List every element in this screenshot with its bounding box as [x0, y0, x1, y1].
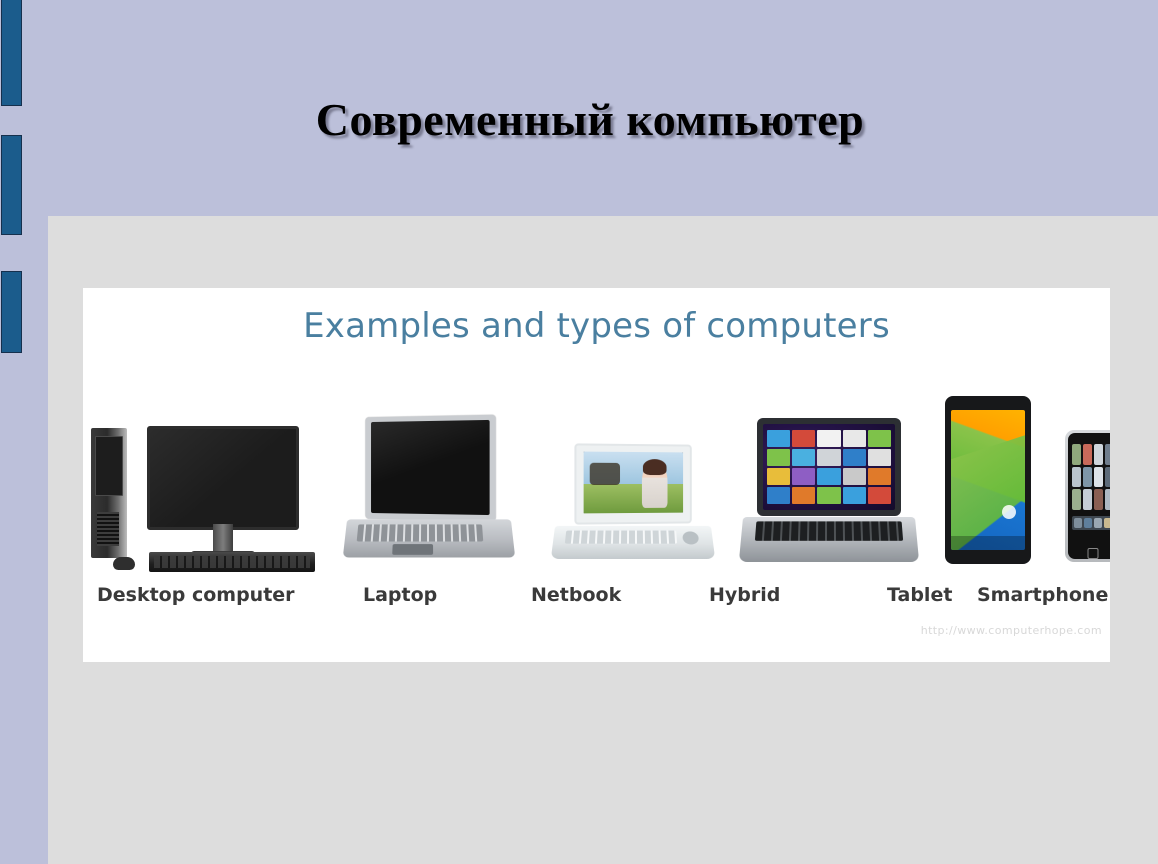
desktop-monitor-icon — [147, 426, 299, 530]
monitor-stand-icon — [213, 524, 233, 554]
device-row — [83, 372, 1110, 572]
start-tile — [843, 487, 866, 504]
app-icon — [1094, 489, 1103, 510]
start-tile — [792, 430, 815, 447]
start-tile — [817, 430, 840, 447]
device-label-laptop: Laptop — [363, 584, 437, 606]
start-tile — [767, 468, 790, 485]
app-icon — [1094, 467, 1103, 488]
start-tile — [868, 449, 891, 466]
app-icon — [1105, 467, 1110, 488]
start-tile — [767, 487, 790, 504]
tile-column — [792, 430, 815, 504]
dock-icon — [1104, 518, 1110, 528]
tile-column — [868, 430, 891, 504]
app-icon — [1105, 489, 1110, 510]
start-tile — [792, 487, 815, 504]
smartphone-icon — [1065, 426, 1110, 572]
hybrid-laptop-icon — [741, 410, 921, 572]
start-tile — [843, 430, 866, 447]
tablet-body — [945, 396, 1031, 564]
desktop-tower-icon — [91, 428, 127, 558]
device-label-row: Desktop computer Laptop Netbook Hybrid T… — [83, 584, 1110, 614]
app-icon — [1083, 467, 1092, 488]
wallpaper-foliage — [590, 463, 620, 485]
laptop-keyboard-icon — [343, 519, 515, 557]
smartphone-body — [1065, 430, 1110, 562]
dock-icon — [1094, 518, 1102, 528]
accent-bar-1 — [1, 0, 22, 106]
app-icon — [1072, 444, 1081, 465]
start-tile — [817, 449, 840, 466]
home-button-icon — [1088, 548, 1099, 559]
smartphone-dock — [1072, 516, 1110, 530]
dock-icon — [1084, 518, 1092, 528]
app-icon — [1105, 444, 1110, 465]
device-label-smartphone: Smartphone — [977, 584, 1108, 606]
tablet-wallpaper — [951, 410, 1025, 550]
start-tile — [868, 430, 891, 447]
start-tile — [817, 487, 840, 504]
hybrid-screen-icon — [757, 418, 901, 516]
netbook-icon — [553, 412, 723, 572]
dock-icon — [1074, 518, 1082, 528]
start-tile — [868, 487, 891, 504]
app-icon — [1072, 489, 1081, 510]
desktop-computer-icon — [91, 412, 319, 572]
desktop-keyboard-icon — [149, 552, 315, 572]
tablet-icon — [945, 394, 1035, 572]
device-label-tablet: Tablet — [887, 584, 952, 606]
computer-types-image: Examples and types of computers — [83, 288, 1110, 662]
image-watermark: http://www.computerhope.com — [921, 624, 1102, 637]
device-label-desktop: Desktop computer — [97, 584, 295, 606]
wallpaper-grass — [584, 484, 683, 514]
presentation-slide: Современный компьютер Examples and types… — [0, 0, 1158, 864]
tile-column — [843, 430, 866, 504]
app-icon — [1083, 489, 1092, 510]
netbook-wallpaper — [584, 452, 683, 514]
start-tile — [792, 449, 815, 466]
app-icon — [1094, 444, 1103, 465]
start-tile — [767, 430, 790, 447]
windows-start-screen — [763, 424, 895, 510]
mouse-icon — [113, 557, 135, 570]
laptop-icon — [345, 412, 521, 572]
accent-bar-2 — [1, 135, 22, 235]
start-tile — [843, 449, 866, 466]
accent-bar-3 — [1, 271, 22, 353]
netbook-keyboard-icon — [551, 526, 715, 559]
laptop-screen-icon — [365, 415, 495, 522]
start-tile — [792, 468, 815, 485]
hybrid-keyboard-icon — [739, 517, 919, 562]
app-icon — [1083, 444, 1092, 465]
device-label-hybrid: Hybrid — [709, 584, 780, 606]
start-tile — [817, 468, 840, 485]
image-heading: Examples and types of computers — [83, 306, 1110, 346]
start-tile — [843, 468, 866, 485]
device-label-netbook: Netbook — [531, 584, 621, 606]
netbook-screen-icon — [574, 443, 691, 524]
wallpaper-person-hair — [643, 459, 667, 475]
tile-column — [767, 430, 790, 504]
smartphone-screen — [1068, 433, 1110, 559]
start-tile — [767, 449, 790, 466]
app-grid — [1072, 444, 1110, 510]
slide-title: Современный компьютер — [60, 92, 1120, 148]
app-icon — [1072, 467, 1081, 488]
tile-column — [817, 430, 840, 504]
tablet-dock — [951, 536, 1025, 550]
start-tile — [868, 468, 891, 485]
